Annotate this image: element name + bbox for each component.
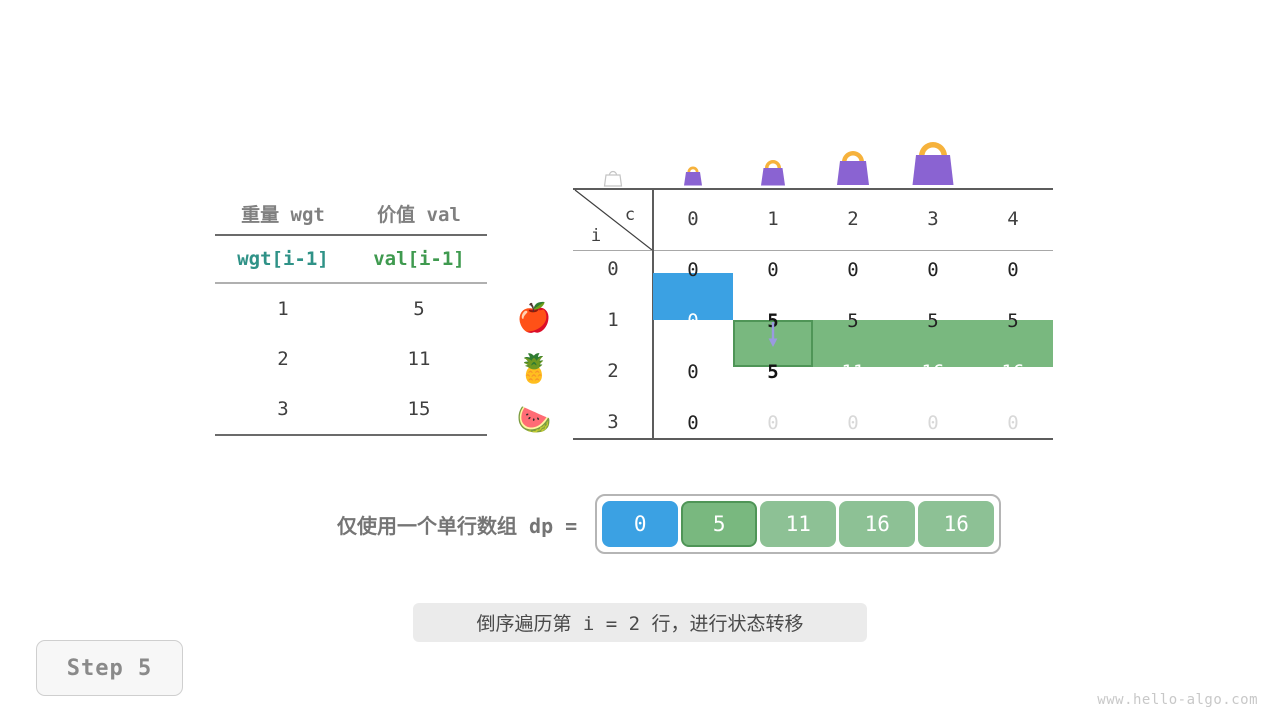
item-table-grid: 重量 wgt 价值 val wgt[i-1] val[i-1] 1 5 2 11… [215,192,487,436]
watermelon-emoji: 🍉 [517,406,552,434]
matrix-row-header-3: 3 [573,413,653,432]
table-row: 3 15 [215,384,487,435]
dp-array-container: 0 5 11 16 16 [595,494,1001,554]
matrix-cell-r3c0: 0 [653,399,733,446]
item-val-3: 15 [351,384,487,435]
matrix-cell-r3c2: 0 [813,399,893,446]
pineapple-emoji: 🍍 [517,355,552,383]
matrix-col-header-4: 4 [973,210,1053,229]
item-table-header-val: 价值 val [351,192,487,235]
fruit-slot-1: 🍎 [505,292,563,343]
matrix-col-header-3: 3 [893,210,973,229]
item-weight-value-table: 重量 wgt 价值 val wgt[i-1] val[i-1] 1 5 2 11… [215,192,487,436]
item-wgt-1: 1 [215,283,351,334]
corner-label-i: i [585,226,607,246]
matrix-cell-r0c3: 0 [893,246,973,293]
matrix-cell-r0c4: 0 [973,246,1053,293]
matrix-cell-r2c2: 11 [813,348,893,395]
bag-size-2-icon [733,153,813,187]
item-val-2: 11 [351,334,487,384]
item-table-header-wgt: 重量 wgt [215,192,351,235]
state-transition-arrow-icon [764,322,782,354]
bag-size-0-icon [573,167,653,187]
matrix-cell-r0c0: 0 [653,246,733,293]
item-val-1: 5 [351,283,487,334]
matrix-row-header-1: 1 [573,311,653,330]
corner-label-c: c [619,205,641,225]
matrix-col-header-0: 0 [653,210,733,229]
dp-array-cell-0[interactable]: 0 [602,501,678,547]
matrix-cell-r1c2: 5 [813,297,893,344]
dp-array-label: 仅使用一个单行数组 dp = [337,510,577,539]
matrix-cell-r1c3: 5 [893,297,973,344]
item-wgt-2: 2 [215,334,351,384]
matrix-cell-r3c3: 0 [893,399,973,446]
item-table-subheader-wgt: wgt[i-1] [215,235,351,283]
matrix-cell-r3c4: 0 [973,399,1053,446]
matrix-row-header-2: 2 [573,362,653,381]
item-table-subheader-val: val[i-1] [351,235,487,283]
dp-matrix-table: c i 0 1 2 3 4 0 1 2 3 0 0 0 0 0 0 5 5 5 … [573,188,1053,440]
matrix-col-header-2: 2 [813,210,893,229]
bag-size-1-icon [653,159,733,187]
dp-array-cell-4[interactable]: 16 [918,501,994,547]
table-row: 2 11 [215,334,487,384]
matrix-cell-r1c4: 5 [973,297,1053,344]
matrix-cell-r0c1: 0 [733,246,813,293]
bag-size-3-icon [813,143,893,187]
item-table-subheader-row: wgt[i-1] val[i-1] [215,235,487,283]
dp-array-cell-3[interactable]: 16 [839,501,915,547]
fruit-slot-3: 🍉 [505,394,563,445]
bag-capacity-icon-strip [573,125,1053,187]
matrix-cell-r2c0: 0 [653,348,733,395]
bag-size-4-icon [893,133,973,187]
item-wgt-3: 3 [215,384,351,435]
step-caption: 倒序遍历第 i = 2 行，进行状态转移 [413,603,867,642]
table-row: 1 5 [215,283,487,334]
matrix-cell-r0c2: 0 [813,246,893,293]
matrix-col-header-1: 1 [733,210,813,229]
matrix-row-header-0: 0 [573,260,653,279]
dp-array-cell-1[interactable]: 5 [681,501,757,547]
item-table-header-row: 重量 wgt 价值 val [215,192,487,235]
fruit-slot-2: 🍍 [505,343,563,394]
dp-single-array-section: 仅使用一个单行数组 dp = 0 5 11 16 16 [337,494,1001,554]
apple-emoji: 🍎 [517,304,552,332]
matrix-cell-r3c1: 0 [733,399,813,446]
item-fruit-icon-column: 🍎 🍍 🍉 [505,292,563,445]
watermark: www.hello-algo.com [1097,692,1258,708]
step-badge: Step 5 [36,640,183,696]
matrix-cell-r2c4: 16 [973,348,1053,395]
matrix-cell-r2c1: 5 [733,348,813,395]
matrix-cell-r2c3: 16 [893,348,973,395]
matrix-cell-r1c0: 0 [653,297,733,344]
dp-array-cell-2[interactable]: 11 [760,501,836,547]
